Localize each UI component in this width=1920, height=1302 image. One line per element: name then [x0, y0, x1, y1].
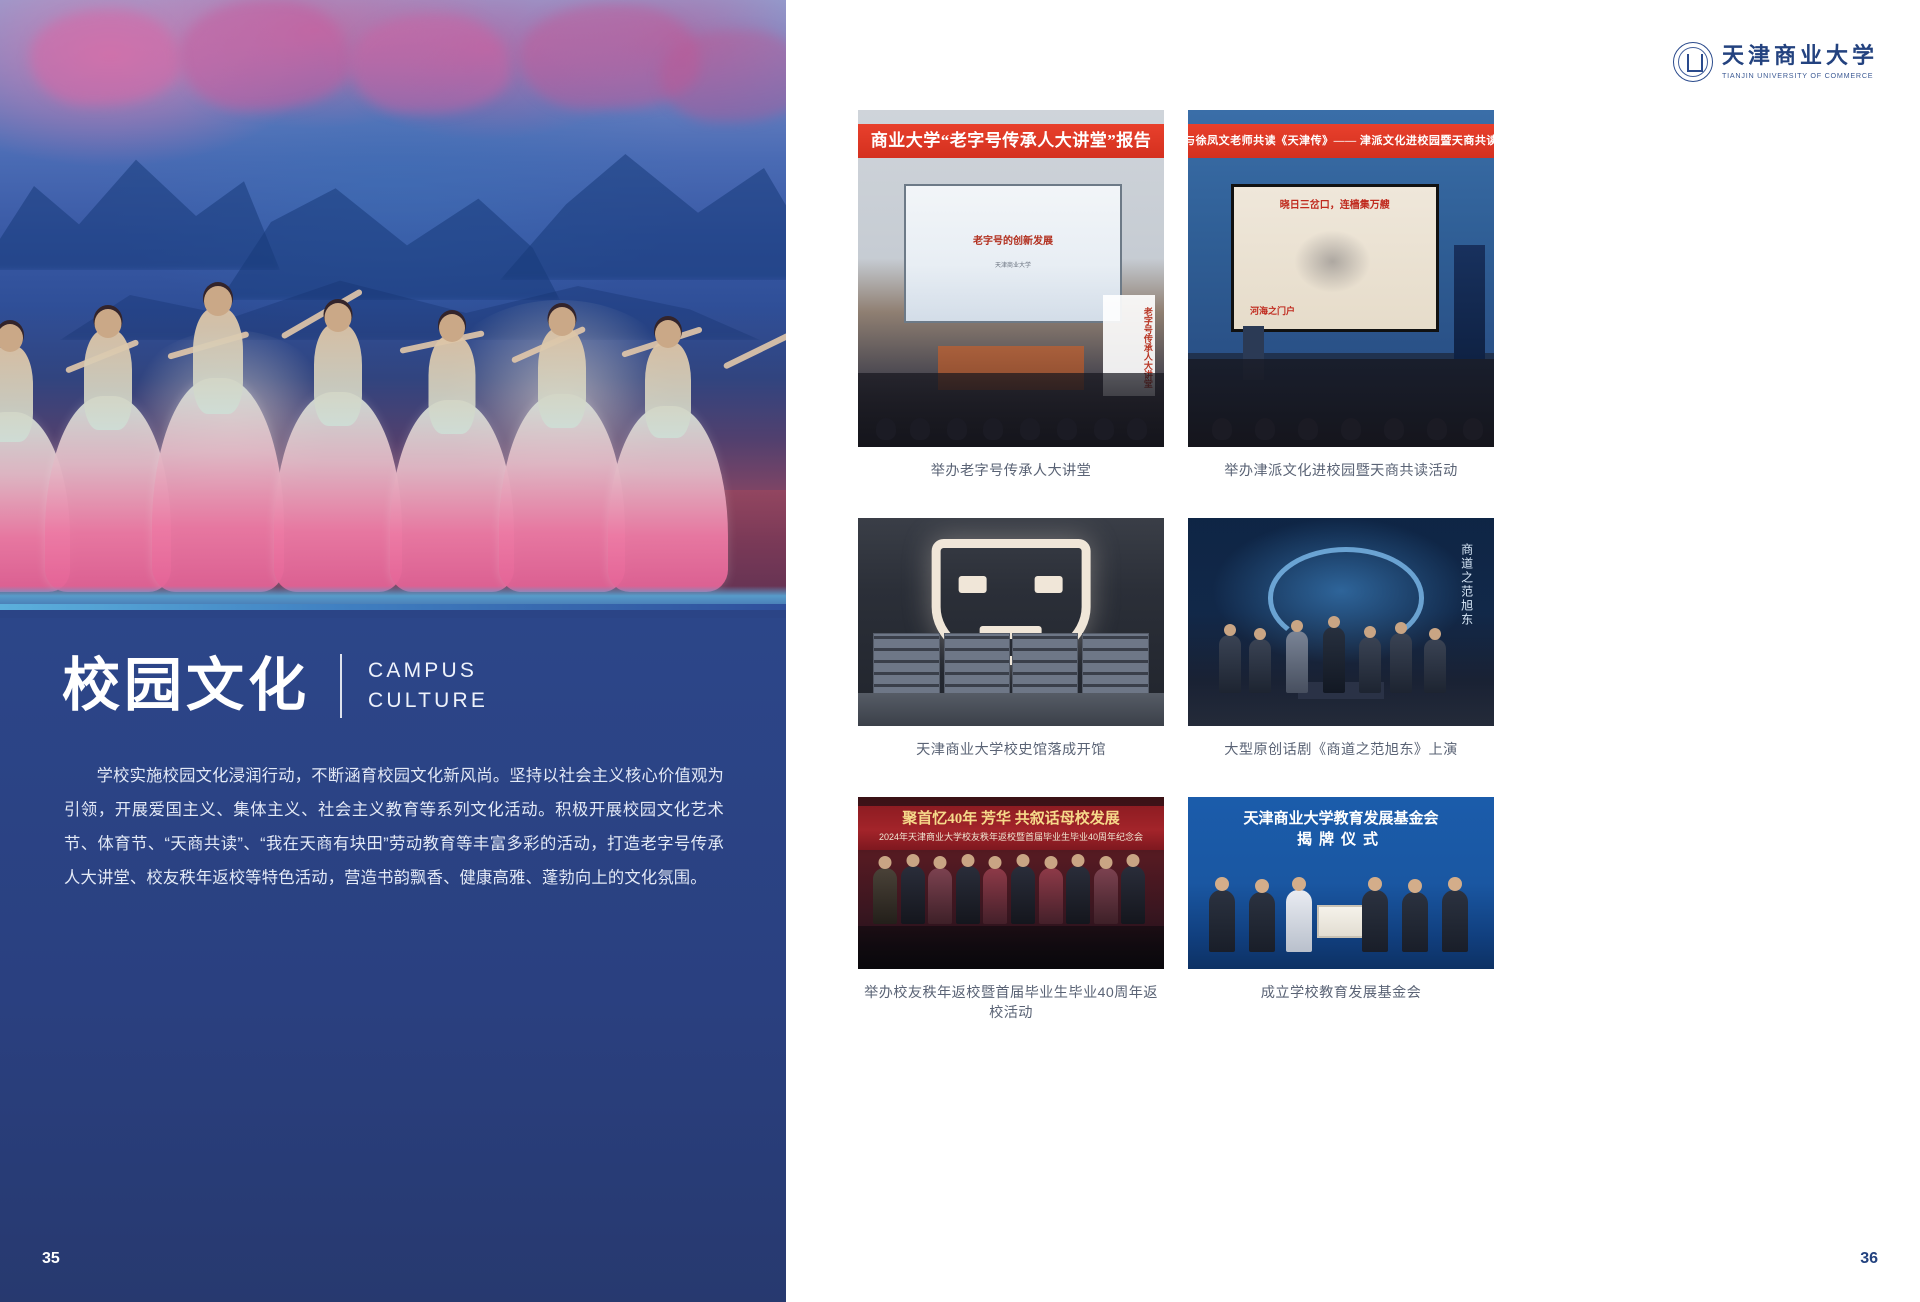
audience-head: [1212, 418, 1232, 440]
photo-item: 商业大学“老字号传承人大讲堂”报告 老字号的创新发展 天津商业大学 老字号传承人…: [858, 110, 1164, 480]
photo-row: 聚首忆40年 芳华 共叙话母校发展 2024年天津商业大学校友秩年返校暨首届毕业…: [858, 797, 1858, 1022]
official: [1362, 890, 1388, 952]
actor: [1359, 637, 1381, 693]
left-page: 校园文化 CAMPUS CULTURE 学校实施校园文化浸润行动，不断涵育校园文…: [0, 0, 786, 1302]
exhibit-panel: [1012, 633, 1078, 697]
photo-caption: 天津商业大学校史馆落成开馆: [858, 739, 1164, 759]
attendee: [873, 868, 897, 924]
official: [1402, 892, 1428, 952]
actor: [1249, 639, 1271, 693]
ink-subtitle: 河海之门户: [1250, 304, 1295, 317]
foreground-crowd: [858, 926, 1164, 969]
slide-title: 老字号的创新发展: [906, 232, 1120, 247]
photo-item: 聚首忆40年 芳华 共叙话母校发展 2024年天津商业大学校友秩年返校暨首届毕业…: [858, 797, 1164, 1022]
photo-banner-text: 商业大学“老字号传承人大讲堂”报告: [858, 124, 1164, 158]
official: [1286, 890, 1312, 952]
mountain-silhouette: [0, 150, 280, 270]
left-content-panel: 校园文化 CAMPUS CULTURE 学校实施校园文化浸润行动，不断涵育校园文…: [0, 618, 786, 1302]
exhibit-panel: [1082, 633, 1148, 697]
museum-floor: [858, 693, 1164, 726]
photo-caption: 举办津派文化进校园暨天商共读活动: [1188, 460, 1494, 480]
attendee: [901, 866, 925, 924]
ceremony-subtitle: 揭牌仪式: [1188, 828, 1494, 849]
section-title-en-line2: CULTURE: [368, 686, 488, 716]
section-paragraph: 学校实施校园文化浸润行动，不断涵育校园文化新风尚。坚持以社会主义核心价值观为引领…: [64, 760, 724, 896]
photo-drama-stage: 商道之范旭东: [1188, 518, 1494, 726]
audience-head: [1057, 418, 1077, 440]
ceremony-title: 天津商业大学教育发展基金会: [1188, 807, 1494, 828]
audience-head: [983, 418, 1003, 440]
actor-lead: [1323, 627, 1345, 693]
attendee: [1094, 868, 1118, 924]
audience-head: [1463, 418, 1483, 440]
hero-bottom-band: [0, 604, 786, 610]
audience-head: [947, 418, 967, 440]
audience-head: [910, 418, 930, 440]
alumni-banner-line2: 2024年天津商业大学校友秩年返校暨首届毕业生毕业40周年纪念会: [858, 830, 1164, 843]
photo-item: 商道之范旭东 大型原创话剧《商道之范旭东》上演: [1188, 518, 1494, 759]
attendee: [1011, 866, 1035, 924]
audience-area: [858, 373, 1164, 447]
attendee: [1121, 866, 1145, 924]
section-title-en: CAMPUS CULTURE: [368, 656, 488, 717]
exhibit-panel: [873, 633, 939, 697]
attendee: [983, 868, 1007, 924]
official: [1209, 890, 1235, 952]
mountain-silhouette: [220, 170, 560, 300]
photo-grid: 商业大学“老字号传承人大讲堂”报告 老字号的创新发展 天津商业大学 老字号传承人…: [858, 110, 1858, 1022]
photo-caption: 成立学校教育发展基金会: [1188, 982, 1494, 1002]
audience-head: [1255, 418, 1275, 440]
university-seal-icon: [1673, 42, 1713, 82]
photo-item: 与徐凤文老师共读《天津传》—— 津派文化进校园暨天商共读 晓日三岔口，连樯集万艘…: [1188, 110, 1494, 480]
attendee: [1039, 868, 1063, 924]
audience-head: [1298, 418, 1318, 440]
exhibit-panel: [944, 633, 1010, 697]
magazine-spread: 校园文化 CAMPUS CULTURE 学校实施校园文化浸润行动，不断涵育校园文…: [0, 0, 1920, 1302]
actor: [1286, 631, 1308, 693]
attendee: [1066, 866, 1090, 924]
ink-blob: [660, 30, 786, 122]
actor: [1390, 633, 1412, 693]
section-title-cn: 校园文化: [62, 657, 310, 715]
photo-lecture-hall: 商业大学“老字号传承人大讲堂”报告 老字号的创新发展 天津商业大学 老字号传承人…: [858, 110, 1164, 447]
ink-blob: [350, 14, 510, 114]
photo-banner-text: 与徐凤文老师共读《天津传》—— 津派文化进校园暨天商共读: [1188, 124, 1494, 158]
photo-museum-hall: [858, 518, 1164, 726]
official: [1442, 890, 1468, 952]
photo-caption: 举办老字号传承人大讲堂: [858, 460, 1164, 480]
projector-screen: 老字号的创新发展 天津商业大学: [904, 184, 1122, 323]
logo-name-en: TIANJIN UNIVERSITY OF COMMERCE: [1722, 71, 1878, 80]
attendee: [928, 868, 952, 924]
university-logo: 天津商业大学 TIANJIN UNIVERSITY OF COMMERCE: [1673, 42, 1878, 82]
official: [1249, 892, 1275, 952]
audience-head: [1384, 418, 1404, 440]
alumni-banner-line1: 聚首忆40年 芳华 共叙话母校发展: [858, 807, 1164, 828]
audience-head: [1094, 418, 1114, 440]
photo-foundation-ceremony: 天津商业大学教育发展基金会 揭牌仪式: [1188, 797, 1494, 969]
audience-head: [1341, 418, 1361, 440]
mountain-silhouette: [500, 140, 786, 280]
audience-head: [1020, 418, 1040, 440]
slide-subtitle: 天津商业大学: [906, 260, 1120, 269]
page-number-right: 36: [1860, 1250, 1878, 1268]
right-page: 天津商业大学 TIANJIN UNIVERSITY OF COMMERCE 商业…: [786, 0, 1920, 1302]
ink-swirl: [1294, 230, 1371, 294]
photo-item: 天津商业大学教育发展基金会 揭牌仪式 成立学校教育发展基金会: [1188, 797, 1494, 1022]
photo-alumni-reunion: 聚首忆40年 芳华 共叙话母校发展 2024年天津商业大学校友秩年返校暨首届毕业…: [858, 797, 1164, 969]
ink-blob: [180, 0, 350, 110]
stage-vertical-text: 商道之范旭东: [1459, 543, 1476, 627]
section-title-en-line1: CAMPUS: [368, 656, 488, 686]
audience-head: [1427, 418, 1447, 440]
logo-name-cn: 天津商业大学: [1722, 44, 1878, 68]
actor: [1424, 639, 1446, 693]
roll-up-banner: [1454, 245, 1485, 360]
logo-text: 天津商业大学 TIANJIN UNIVERSITY OF COMMERCE: [1722, 44, 1878, 80]
photo-caption: 大型原创话剧《商道之范旭东》上演: [1188, 739, 1494, 759]
section-title: 校园文化 CAMPUS CULTURE: [62, 654, 488, 718]
photo-blue-hall: 与徐凤文老师共读《天津传》—— 津派文化进校园暨天商共读 晓日三岔口，连樯集万艘…: [1188, 110, 1494, 447]
audience-head: [1127, 418, 1147, 440]
photo-item: 天津商业大学校史馆落成开馆: [858, 518, 1164, 759]
ink-painting-screen: 晓日三岔口，连樯集万艘 河海之门户: [1231, 184, 1439, 332]
photo-caption: 举办校友秩年返校暨首届毕业生毕业40周年返校活动: [858, 982, 1164, 1022]
ink-blob: [30, 10, 180, 105]
page-number-left: 35: [42, 1250, 60, 1268]
photo-row: 商业大学“老字号传承人大讲堂”报告 老字号的创新发展 天津商业大学 老字号传承人…: [858, 110, 1858, 480]
actor: [1219, 635, 1241, 693]
title-divider: [340, 654, 342, 718]
photo-row: 天津商业大学校史馆落成开馆 商道之范旭东: [858, 518, 1858, 759]
hero-photo-dance-performance: [0, 0, 786, 610]
ink-title: 晓日三岔口，连樯集万艘: [1234, 196, 1436, 211]
audience-head: [876, 418, 896, 440]
attendee: [956, 866, 980, 924]
